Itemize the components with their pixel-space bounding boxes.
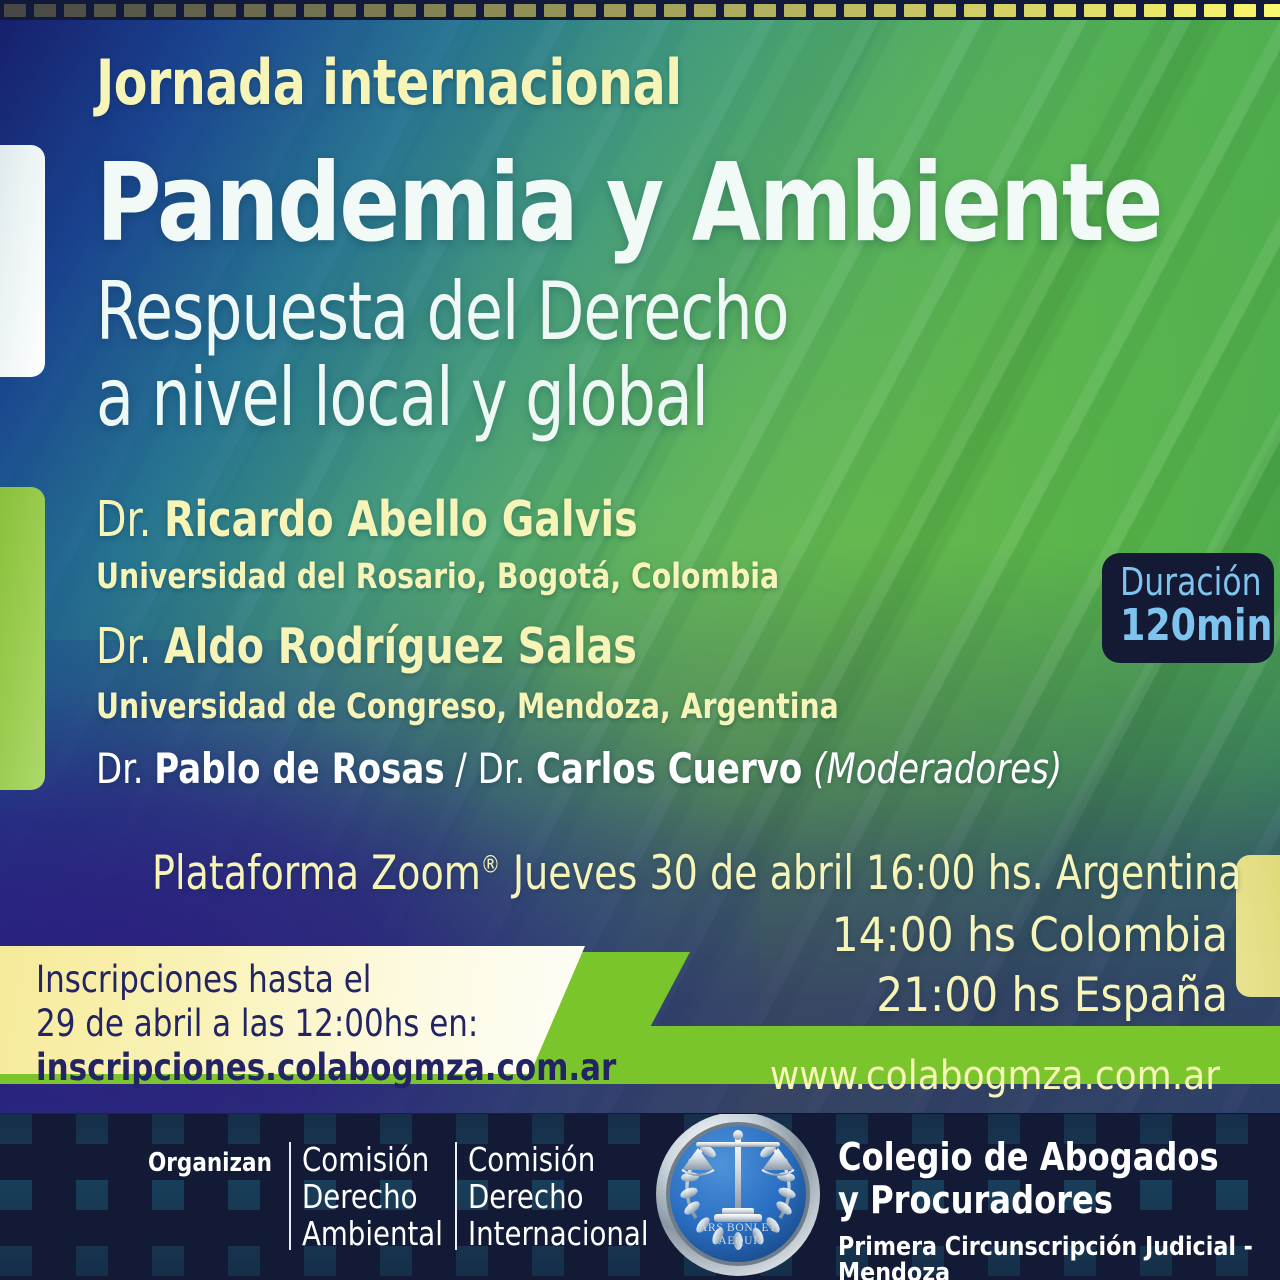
registration-line-2: 29 de abril a las 12:00hs en: xyxy=(36,1002,478,1045)
speaker-1-affiliation: Universidad del Rosario, Bogotá, Colombi… xyxy=(96,560,779,595)
schedule-line-1: Jueves 30 de abril 16:00 hs. Argentina xyxy=(513,846,1242,901)
moderator-2-honorific: Dr. xyxy=(478,744,526,793)
registration-line-1: Inscripciones hasta el xyxy=(36,958,371,1001)
speaker-1-fullname: Ricardo Abello Galvis xyxy=(164,491,638,548)
duration-label: Duración xyxy=(1120,563,1247,603)
event-kicker: Jornada internacional xyxy=(96,52,682,114)
organizer-commission-1: Comisión Derecho Ambiental xyxy=(302,1142,443,1253)
moderator-1-honorific: Dr. xyxy=(96,744,144,793)
registered-trademark-icon: ® xyxy=(481,850,500,878)
registration-text: Inscripciones hasta el 29 de abril a las… xyxy=(36,958,616,1090)
schedule-line-3: 21:00 hs España xyxy=(876,972,1228,1019)
schedule-line-2: 14:00 hs Colombia xyxy=(832,912,1228,959)
seal-motto-line-2: AEQUI xyxy=(718,1235,757,1247)
moderators-separator: / xyxy=(455,744,466,793)
speaker-2-affiliation: Universidad de Congreso, Mendoza, Argent… xyxy=(96,690,839,725)
footer-divider-1 xyxy=(289,1142,291,1250)
organizer-commission-2: Comisión Derecho Internacional xyxy=(468,1142,649,1253)
footer-bar: Organizan Comisión Derecho Ambiental Com… xyxy=(0,1114,1280,1280)
speaker-1-name: Dr. Ricardo Abello Galvis xyxy=(96,495,638,544)
duration-badge: Duración 120min xyxy=(1102,553,1274,663)
platform-name: Plataforma Zoom xyxy=(152,846,481,901)
moderators-role-note: (Moderadores) xyxy=(813,744,1062,793)
page-title: Pandemia y Ambiente xyxy=(96,150,1162,258)
speaker-2-fullname: Aldo Rodríguez Salas xyxy=(164,618,637,675)
event-poster: Jornada internacional Pandemia y Ambient… xyxy=(0,0,1280,1280)
moderator-2-name: Carlos Cuervo xyxy=(536,744,802,793)
page-subtitle-line-1: Respuesta del Derecho xyxy=(96,272,788,352)
registration-url[interactable]: inscripciones.colabogmza.com.ar xyxy=(36,1046,616,1090)
page-subtitle-line-2: a nivel local y global xyxy=(96,358,708,438)
moderator-1-name: Pablo de Rosas xyxy=(154,744,444,793)
moderators-line: Dr. Pablo de Rosas / Dr. Carlos Cuervo (… xyxy=(96,748,1062,790)
bar-association-seal-icon: ARS BONI ET AEQUI xyxy=(652,1114,824,1280)
seal-motto-line-1: ARS BONI ET xyxy=(699,1222,777,1234)
organizers-label: Organizan xyxy=(148,1148,272,1178)
platform-and-time-line: Plataforma Zoom®Jueves 30 de abril 16:00… xyxy=(152,850,1241,897)
footer-divider-2 xyxy=(455,1142,457,1250)
organization-jurisdiction: Primera Circunscripción Judicial - Mendo… xyxy=(838,1234,1258,1280)
speaker-2-name: Dr. Aldo Rodríguez Salas xyxy=(96,622,637,671)
duration-value: 120min xyxy=(1120,603,1247,649)
speaker-1-honorific: Dr. xyxy=(96,491,151,548)
organization-name: Colegio de Abogados y Procuradores xyxy=(838,1136,1219,1221)
speaker-2-honorific: Dr. xyxy=(96,618,151,675)
website-url[interactable]: www.colabogmza.com.ar xyxy=(770,1056,1220,1096)
